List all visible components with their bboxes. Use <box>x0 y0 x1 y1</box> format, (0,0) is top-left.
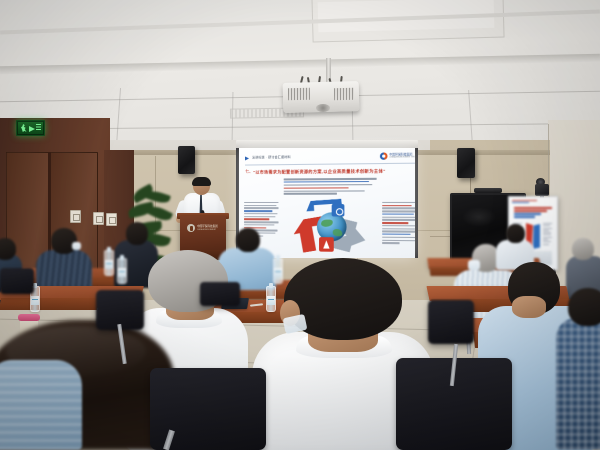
poster-header <box>512 200 554 204</box>
projector-vent-icon <box>334 88 354 100</box>
attendee-torso <box>0 360 82 450</box>
ceiling-tile-seam <box>468 90 473 144</box>
attendee-head <box>126 222 148 245</box>
slide-header-text: 演讲标题 · 研讨会汇报材料 <box>252 155 291 160</box>
lectern-logo: 中国环保科技集团 CHINA ENVIRONMENT <box>187 224 218 232</box>
triangle-bullet-icon <box>245 156 249 160</box>
attendee-left-mid <box>0 336 82 450</box>
exit-text-icon <box>36 124 41 132</box>
projector-lens-icon <box>316 104 330 112</box>
badge-red-icon <box>319 237 334 252</box>
video-camera <box>535 184 549 196</box>
recycling-globe-diagram <box>292 200 368 257</box>
chair-mid-right[interactable] <box>428 300 474 344</box>
slide-logo-subtext: CHINA ENVIRONMENT GROUP <box>389 156 415 158</box>
face-mask <box>72 242 81 250</box>
power-outlet-icon[interactable] <box>70 210 81 223</box>
lectern-logo-subtext: CHINA ENVIRONMENT <box>197 229 218 231</box>
screen-glare <box>462 207 496 227</box>
ceiling-tile-seam <box>116 88 121 146</box>
attendee-head <box>0 238 16 260</box>
slide-title-bullet: 七、 <box>245 169 253 175</box>
power-outlet-icon[interactable] <box>93 212 104 225</box>
badge-blue-icon <box>332 204 345 216</box>
ceiling-band <box>0 10 600 35</box>
attendee-head <box>572 238 594 260</box>
attendee-checked-shirt <box>556 288 600 450</box>
meeting-room-photo: 演讲标题 · 研讨会汇报材料 中国环保科技集团 CHINA ENVIRONMEN… <box>0 0 600 450</box>
attendee-head <box>51 228 77 254</box>
chair-back-left[interactable] <box>0 268 34 294</box>
slide-right-text-column <box>382 202 415 246</box>
slide-title: "以市场需求为配置创新资源的方案,以企业高质量技术创新为主体" <box>253 168 415 176</box>
wall-speaker-right <box>457 148 475 178</box>
slide-logo: 中国环保科技集团 CHINA ENVIRONMENT GROUP <box>380 152 415 160</box>
wall-speaker-left <box>178 146 195 174</box>
attendee-torso <box>556 318 600 450</box>
poster-right-text <box>543 223 552 246</box>
attendee-head <box>236 228 260 252</box>
poster-title <box>514 207 552 219</box>
exit-sign <box>16 120 45 136</box>
slide-header: 演讲标题 · 研讨会汇报材料 中国环保科技集团 CHINA ENVIRONMEN… <box>245 151 415 165</box>
ceiling-beam <box>0 54 600 75</box>
screen-edge <box>415 148 418 258</box>
attendee-head <box>568 288 600 326</box>
slide-center-text-block <box>284 178 377 196</box>
attendee-neck <box>512 296 546 318</box>
chair-back-center[interactable] <box>200 282 240 306</box>
organization-logo-icon <box>187 224 195 232</box>
water-bottle[interactable] <box>104 250 114 276</box>
projector-vent-icon <box>288 88 310 101</box>
attendee-head <box>506 224 525 243</box>
company-logo-icon <box>380 152 388 159</box>
arrow-right-icon <box>29 126 35 132</box>
presenter-hair <box>192 177 211 186</box>
